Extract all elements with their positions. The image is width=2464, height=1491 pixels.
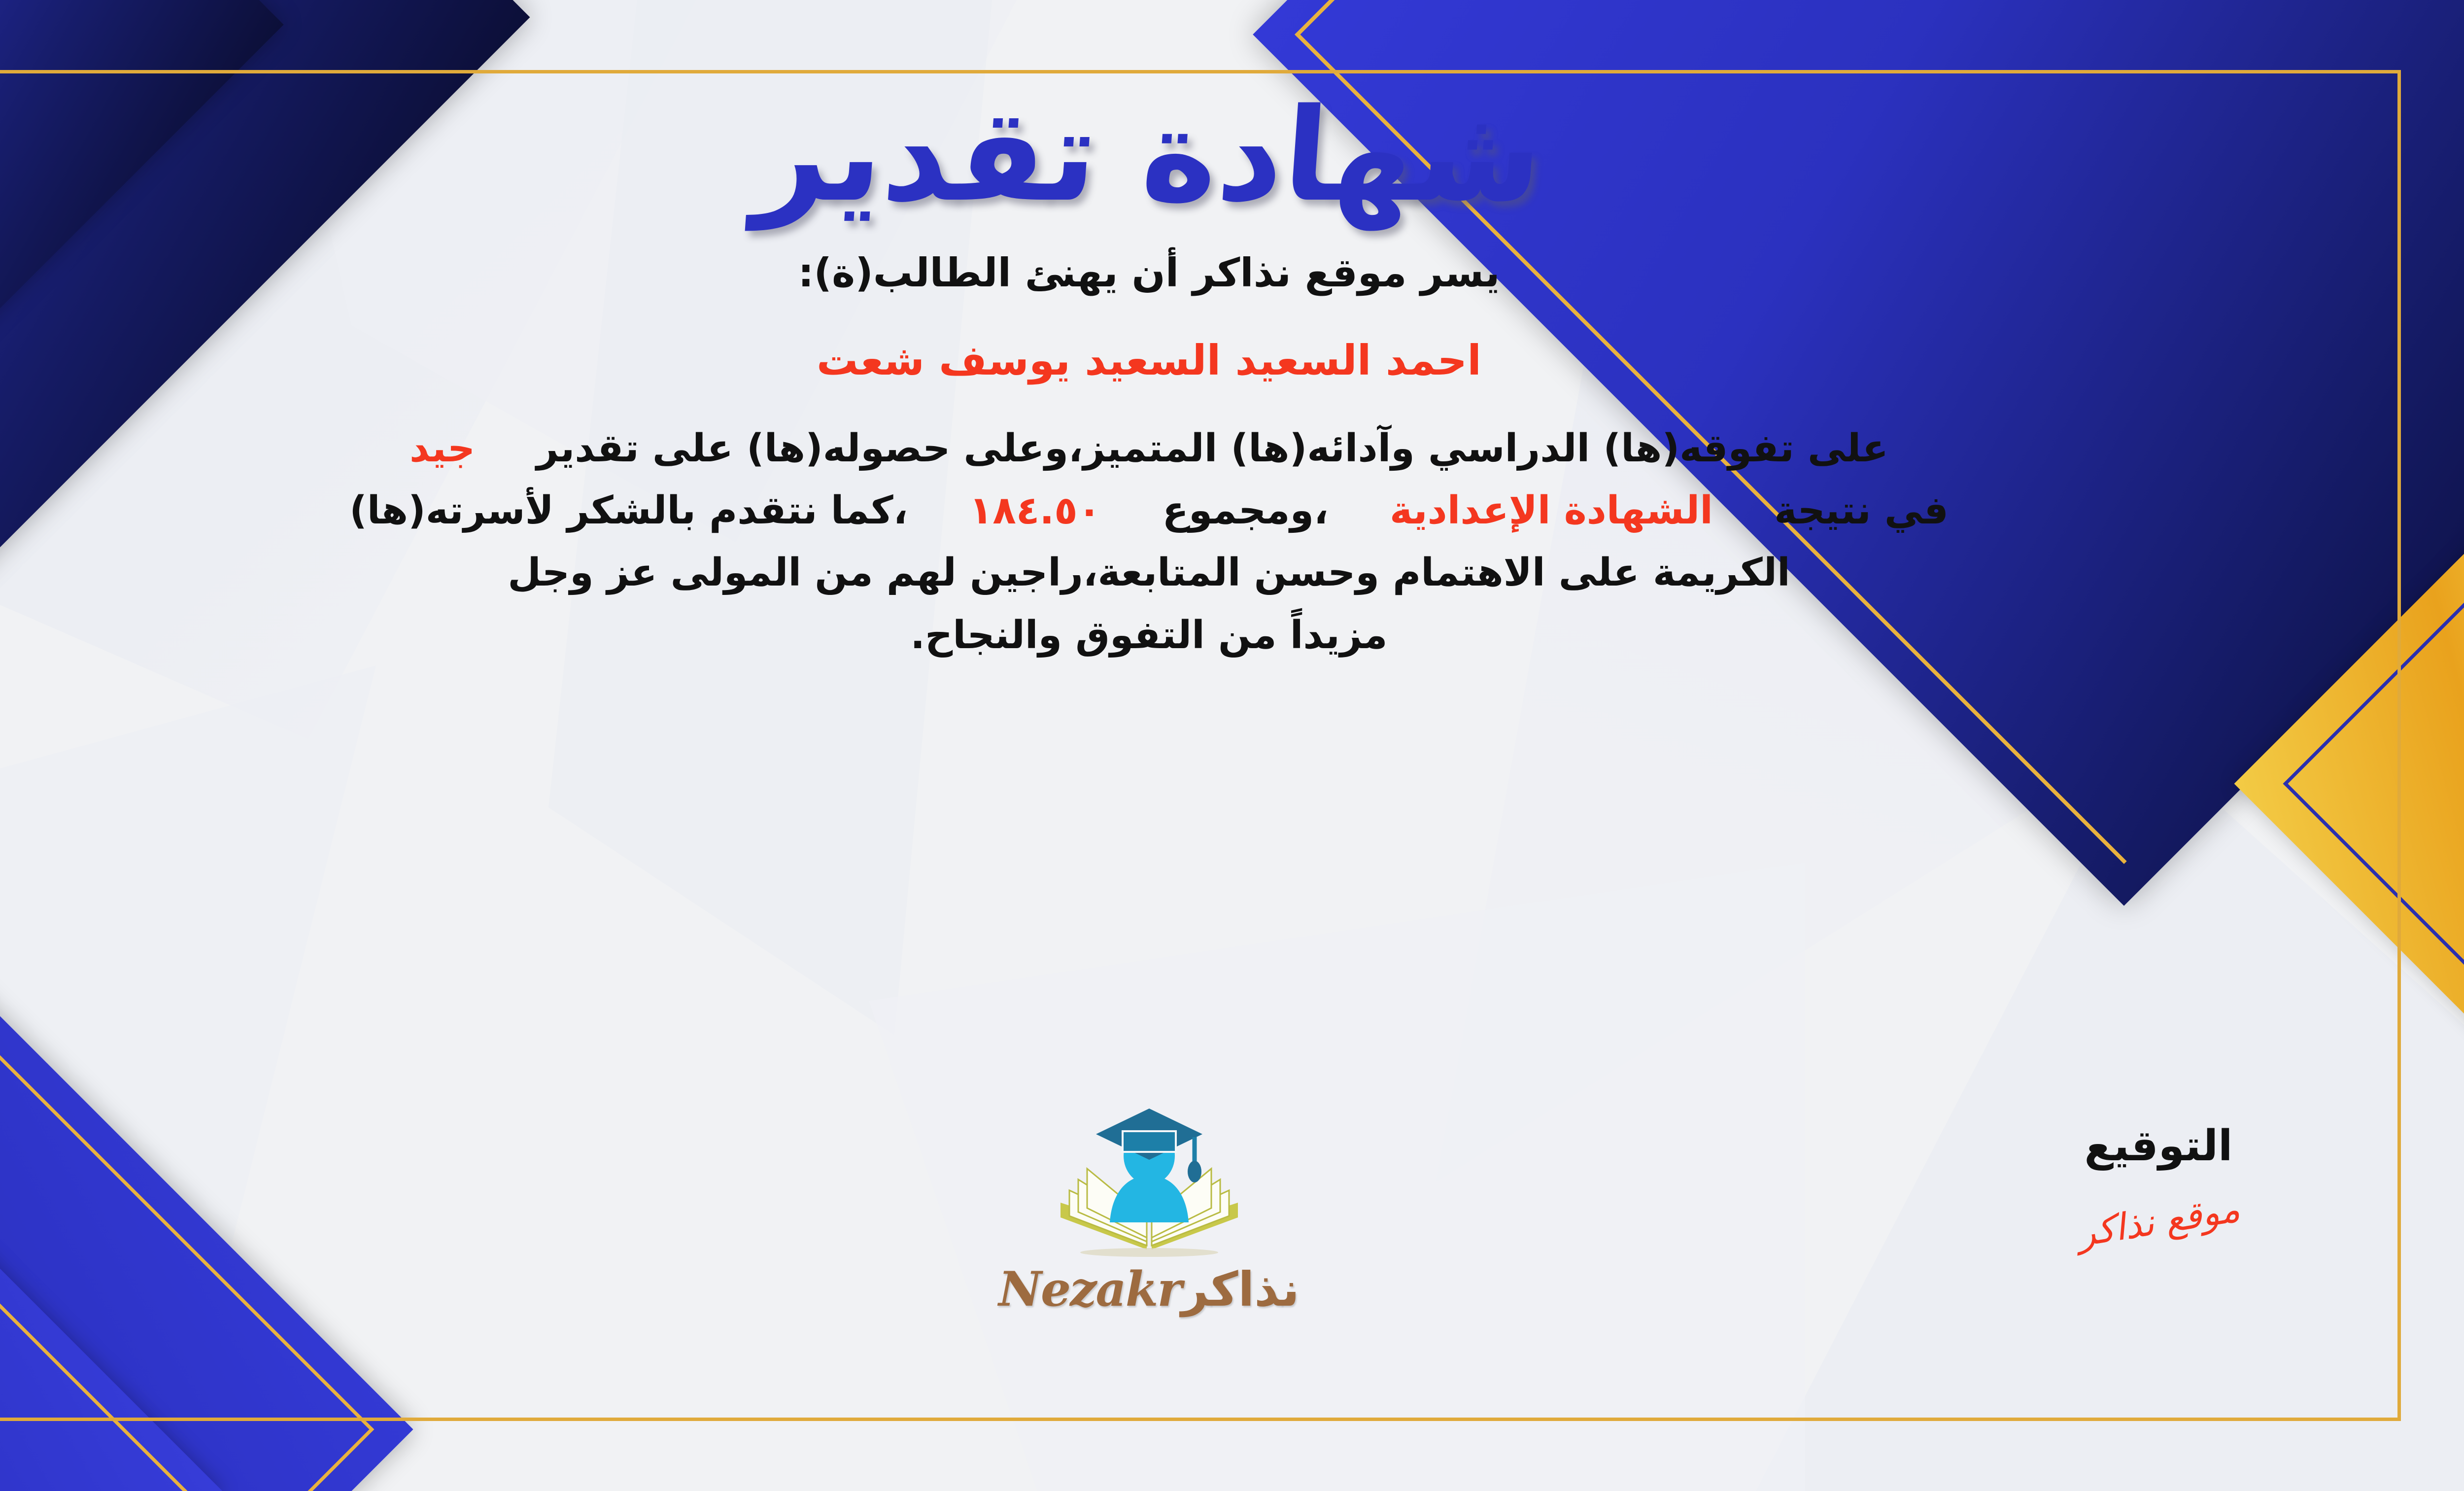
logo-latin: Nezakr	[998, 1261, 1181, 1317]
signature-label: التوقيع	[1971, 1121, 2346, 1171]
total-label: ،ومجموع	[1163, 488, 1329, 533]
logo-arabic: نذاكر	[1181, 1262, 1300, 1317]
certificate-content: شهادة تقدير يسر موقع نذاكر أن يهنئ الطال…	[0, 79, 2375, 1412]
certificate-canvas: شهادة تقدير يسر موقع نذاكر أن يهنئ الطال…	[0, 0, 2464, 1491]
total-score: ١٨٤.٥٠	[969, 488, 1101, 533]
exam-name: الشهادة الإعدادية	[1390, 488, 1713, 533]
greeting-line: يسر موقع نذاكر أن يهنئ الطالب(ة):	[0, 241, 2375, 305]
exam-result-line: في نتيجة الشهادة الإعدادية ،ومجموع ١٨٤.٥…	[0, 480, 2375, 542]
signature-block: التوقيع موقع نذاكر	[1971, 1121, 2346, 1243]
family-thanks-line: الكريمة على الاهتمام وحسن المتابعة،راجين…	[0, 542, 2375, 604]
closing-line: مزيداً من التفوق والنجاح.	[0, 604, 2375, 666]
site-logo: نذاكرNezakr	[962, 1102, 1336, 1317]
logo-wordmark: نذاكرNezakr	[962, 1261, 1336, 1317]
certificate-footer: التوقيع موقع نذاكر	[0, 1102, 2375, 1407]
result-prefix: في نتيجة	[1774, 488, 1949, 533]
signature-script: موقع نذاكر	[2074, 1188, 2243, 1255]
certificate-title: شهادة تقدير	[751, 89, 1547, 223]
achievement-text: على تفوقه(ها) الدراسي وآدائه(ها) المتميز…	[536, 426, 1888, 471]
certificate-body: يسر موقع نذاكر أن يهنئ الطالب(ة): احمد ا…	[0, 241, 2375, 666]
graduate-book-logo-icon	[1046, 1102, 1253, 1264]
achievement-line: على تفوقه(ها) الدراسي وآدائه(ها) المتميز…	[0, 417, 2375, 480]
thanks-text: ،كما نتقدم بالشكر لأسرته(ها)	[349, 488, 908, 533]
student-name: احمد السعيد السعيد يوسف شعت	[0, 327, 2375, 394]
grade-value: جيد	[410, 426, 475, 471]
